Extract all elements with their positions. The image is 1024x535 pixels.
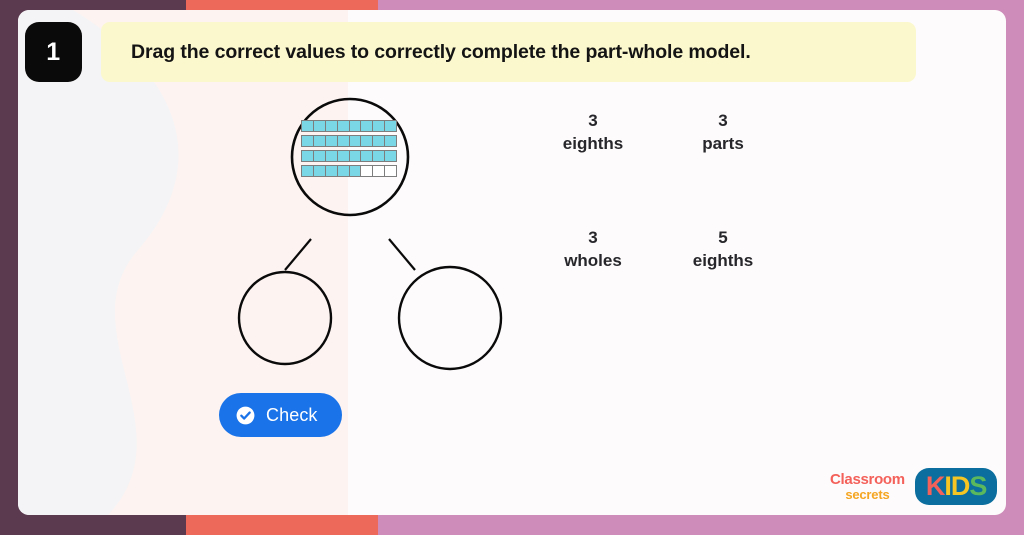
- bar-model-cell-filled: [302, 166, 314, 176]
- bar-model-cell-filled: [302, 121, 314, 131]
- bar-model-cell-empty: [373, 166, 385, 176]
- answer-option-2-unit: wholes: [528, 250, 658, 273]
- bar-model-cell-empty: [385, 166, 396, 176]
- bar-model-cell-filled: [326, 151, 338, 161]
- bar-model-cell-filled: [326, 166, 338, 176]
- answer-options-row: 3 eighths 3 parts: [528, 110, 818, 155]
- answer-option-1-number: 3: [658, 110, 788, 133]
- bar-model-cell-filled: [338, 151, 350, 161]
- part-circle-right[interactable]: [399, 267, 501, 369]
- kids-logo-letter-k: K: [926, 473, 945, 500]
- bar-model-row: [301, 150, 397, 162]
- answer-option-1-unit: parts: [658, 133, 788, 156]
- answer-options-row: 3 wholes 5 eighths: [528, 227, 818, 272]
- classroom-secrets-logo: Classroom secrets: [830, 472, 905, 501]
- answer-option-2-number: 3: [528, 227, 658, 250]
- instruction-text: Drag the correct values to correctly com…: [131, 41, 751, 64]
- bar-model-cell-filled: [350, 151, 362, 161]
- connector-line-right: [389, 239, 415, 270]
- activity-card: 1 Drag the correct values to correctly c…: [18, 10, 1006, 515]
- bar-model-cell-filled: [361, 121, 373, 131]
- answer-option-2[interactable]: 3 wholes: [528, 227, 658, 272]
- logo-group: Classroom secrets K I D S: [830, 468, 997, 505]
- bar-model-cell-filled: [350, 121, 362, 131]
- part-circle-left[interactable]: [239, 272, 331, 364]
- answer-options: 3 eighths 3 parts 3 wholes 5 eighths: [528, 110, 818, 272]
- bar-model-cell-filled: [350, 166, 362, 176]
- bar-model-cell-filled: [314, 166, 326, 176]
- kids-logo-letter-s: S: [969, 473, 986, 500]
- question-number-badge: 1: [25, 22, 82, 82]
- check-button[interactable]: Check: [219, 393, 342, 437]
- kids-logo: K I D S: [915, 468, 998, 505]
- answer-option-3-number: 5: [658, 227, 788, 250]
- check-button-label: Check: [266, 405, 318, 426]
- classroom-secrets-line1: Classroom: [830, 472, 905, 487]
- bar-model-cell-filled: [338, 136, 350, 146]
- bar-model-cell-filled: [314, 151, 326, 161]
- bar-model-cell-filled: [373, 121, 385, 131]
- answer-option-3[interactable]: 5 eighths: [658, 227, 788, 272]
- bar-model-cell-filled: [326, 121, 338, 131]
- activity-screen: 1 Drag the correct values to correctly c…: [0, 0, 1024, 535]
- bar-model-cell-filled: [314, 121, 326, 131]
- bar-model: [301, 120, 397, 177]
- bar-model-cell-filled: [314, 136, 326, 146]
- bar-model-cell-filled: [338, 166, 350, 176]
- bar-model-cell-filled: [338, 121, 350, 131]
- bar-model-cell-empty: [361, 166, 373, 176]
- bar-model-cell-filled: [302, 151, 314, 161]
- connector-line-left: [285, 239, 311, 270]
- bar-model-cell-filled: [373, 136, 385, 146]
- part-whole-diagram: [193, 75, 533, 375]
- answer-option-0-number: 3: [528, 110, 658, 133]
- bar-model-cell-filled: [385, 121, 396, 131]
- bar-model-cell-filled: [302, 136, 314, 146]
- kids-logo-letter-d: D: [951, 473, 970, 500]
- classroom-secrets-line2: secrets: [830, 488, 905, 501]
- answer-option-1[interactable]: 3 parts: [658, 110, 788, 155]
- answer-option-3-unit: eighths: [658, 250, 788, 273]
- bar-model-cell-filled: [361, 151, 373, 161]
- bar-model-row: [301, 120, 397, 132]
- question-number: 1: [46, 38, 60, 67]
- answer-option-0[interactable]: 3 eighths: [528, 110, 658, 155]
- bar-model-cell-filled: [326, 136, 338, 146]
- bar-model-cell-filled: [385, 136, 396, 146]
- bar-model-row: [301, 165, 397, 177]
- instruction-banner: Drag the correct values to correctly com…: [101, 22, 916, 82]
- bar-model-cell-filled: [373, 151, 385, 161]
- answer-option-0-unit: eighths: [528, 133, 658, 156]
- bar-model-cell-filled: [350, 136, 362, 146]
- bar-model-cell-filled: [361, 136, 373, 146]
- check-circle-icon: [236, 406, 255, 425]
- bar-model-row: [301, 135, 397, 147]
- bar-model-cell-filled: [385, 151, 396, 161]
